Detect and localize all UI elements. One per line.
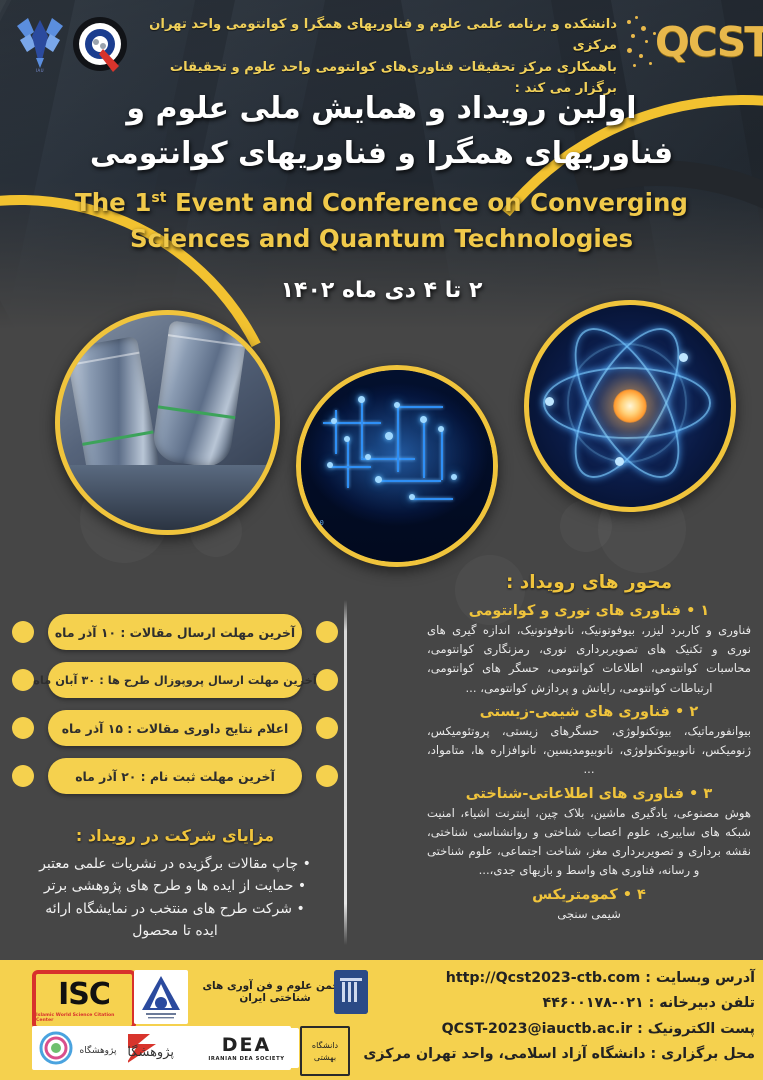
deadline-dot-left — [12, 717, 34, 739]
topic-label: فناوری های شیمی-زیستی — [480, 704, 670, 720]
topic-bullet: • — [675, 704, 684, 720]
top-right-logos: IAU — [10, 8, 132, 78]
deadline-dot-right — [316, 669, 338, 691]
deadline-dot-right — [316, 621, 338, 643]
benefit-item: • شرکت طرح های منتخب در نمایشگاه ارائه — [10, 898, 340, 920]
topic-bullet: • — [689, 786, 698, 802]
website-line: آدرس وبسایت : http://Qcst2023-ctb.com — [355, 966, 755, 991]
circuit-brain-image: 0110 0100 1001 1001 — [296, 365, 498, 567]
svg-text:بهشتی: بهشتی — [314, 1053, 336, 1062]
atom-image — [524, 300, 736, 512]
qcst-circular-logo — [72, 16, 128, 72]
deadline-dot-left — [12, 621, 34, 643]
colorful-circle-logo: پژوهشگاه — [32, 1026, 128, 1070]
topic-title: ۱ • فناوری های نوری و کوانتومی — [423, 603, 755, 619]
deadlines-section: آخرین مهلت ارسال مقالات : ۱۰ آذر ماه آخر… — [10, 612, 340, 804]
deadline-pill: آخرین مهلت ارسال پروپوزال طرح ها : ۳۰ آب… — [48, 662, 302, 698]
ordinal-suffix: st — [151, 190, 166, 206]
english-title-main: Event and Conference on Converging — [175, 188, 688, 217]
topics-section: محور های رویداد : ۱ • فناوری های نوری و … — [423, 572, 755, 930]
deadline-row: آخرین مهلت ثبت نام : ۲۰ آذر ماه — [10, 756, 340, 800]
email-value[interactable]: QCST-2023@iauctb.ac.ir — [442, 1021, 633, 1037]
benefit-item: • چاپ مقالات برگزیده در نشریات علمی معتب… — [10, 853, 340, 875]
isc-logo: ISC Islamic World Science Citation Cente… — [32, 970, 136, 1030]
dea-text: DEA — [222, 1034, 271, 1056]
deadline-text: آخرین مهلت ارسال مقالات : ۱۰ آذر ماه — [55, 625, 295, 640]
website-label: آدرس وبسایت : — [645, 970, 755, 986]
electron — [545, 397, 554, 406]
qcst-logo: QCST — [625, 10, 755, 76]
deadline-row: آخرین مهلت ارسال مقالات : ۱۰ آذر ماه — [10, 612, 340, 656]
phone-value: ۰۲۱-۴۴۶۰۰۱۷۸ — [543, 995, 644, 1011]
topic-title: ۲ • فناوری های شیمی-زیستی — [423, 704, 755, 720]
electron — [679, 353, 688, 362]
atom-nucleus — [613, 389, 647, 423]
event-date: ۲ تا ۴ دی ماه ۱۴۰۲ — [0, 278, 763, 303]
shahid-beheshti-logo: دانشگاه بهشتی — [300, 1026, 350, 1076]
topic-item: ۲ • فناوری های شیمی-زیستی بیوانفورماتیک،… — [423, 704, 755, 780]
dea-society-logo: DEA IRANIAN DEA SOCIETY — [194, 1028, 299, 1068]
topic-item: ۴ • کمومتریکس شیمی سنجی — [423, 887, 755, 924]
sponsor-logos: ISC Islamic World Science Citation Cente… — [4, 964, 360, 1076]
deadline-dot-right — [316, 717, 338, 739]
deadline-row: اعلام نتایج داوری مقالات : ۱۵ آذر ماه — [10, 708, 340, 752]
phone-line: تلفن دبیرخانه : ۰۲۱-۴۴۶۰۰۱۷۸ — [355, 991, 755, 1016]
dea-caption: IRANIAN DEA SOCIETY — [208, 1056, 284, 1062]
cognitive-society-mark — [134, 970, 188, 1024]
topic-body: شیمی سنجی — [423, 905, 755, 924]
venue-line: محل برگزاری : دانشگاه آزاد اسلامی، واحد … — [355, 1042, 755, 1067]
iau-square-logo — [334, 970, 368, 1014]
microscope-image — [55, 310, 280, 535]
english-title-ordinal: The 1 — [75, 188, 151, 217]
svg-text:دانشگاه: دانشگاه — [312, 1040, 339, 1050]
topics-heading: محور های رویداد : — [423, 572, 755, 593]
topic-title: ۳ • فناوری های اطلاعاتی-شناختی — [423, 786, 755, 802]
deadline-text: آخرین مهلت ارسال پروپوزال طرح ها : ۳۰ آب… — [33, 673, 317, 687]
english-title: The 1st Event and Conference on Convergi… — [0, 185, 763, 256]
deadline-text: اعلام نتایج داوری مقالات : ۱۵ آذر ماه — [62, 721, 289, 736]
topic-number: ۳ — [703, 786, 712, 802]
email-line: پست الکترونیک : QCST-2023@iauctb.ac.ir — [355, 1017, 755, 1042]
electron — [615, 457, 624, 466]
english-title-line-2: Sciences and Quantum Technologies — [0, 221, 763, 257]
deadline-dot-left — [12, 765, 34, 787]
azad-university-logo — [12, 12, 68, 74]
topic-label: کمومتریکس — [532, 887, 618, 903]
qcst-wordmark: QCST — [655, 18, 763, 66]
deadline-dot-left — [12, 669, 34, 691]
poster-footer: آدرس وبسایت : http://Qcst2023-ctb.com تل… — [0, 960, 763, 1080]
topic-number: ۱ — [700, 603, 709, 619]
topic-number: ۴ — [637, 887, 646, 903]
phone-label: تلفن دبیرخانه : — [649, 995, 755, 1011]
deadline-pill: آخرین مهلت ارسال مقالات : ۱۰ آذر ماه — [48, 614, 302, 650]
topic-body: هوش مصنوعی، یادگیری ماشین، بلاک چین، این… — [423, 804, 755, 881]
english-title-line-1: The 1st Event and Conference on Convergi… — [0, 185, 763, 221]
email-label: پست الکترونیک : — [637, 1021, 755, 1037]
persian-title-line-2: فناوریهای همگرا و فناوریهای کوانتومی — [0, 131, 763, 176]
venue-value: دانشگاه آزاد اسلامی، واحد تهران مرکزی — [363, 1046, 645, 1062]
contact-info: آدرس وبسایت : http://Qcst2023-ctb.com تل… — [355, 966, 755, 1067]
svg-text:پژوهشگاه: پژوهشگاه — [79, 1044, 117, 1056]
isc-caption: Islamic World Science Citation Center — [36, 1013, 132, 1023]
topic-bullet: • — [686, 603, 695, 619]
website-value[interactable]: http://Qcst2023-ctb.com — [446, 970, 641, 986]
topic-bullet: • — [623, 887, 632, 903]
conference-poster: QCST دانشکده و برنامه علمی علوم و فناوری… — [0, 0, 763, 1080]
benefit-item: ایده تا محصول — [10, 920, 340, 942]
benefit-item: • حمایت از ایده ها و طرح های پژوهشی برتر — [10, 875, 340, 897]
topic-label: فناوری های نوری و کوانتومی — [469, 603, 681, 619]
topic-title: ۴ • کمومتریکس — [423, 887, 755, 903]
venue-label: محل برگزاری : — [651, 1046, 756, 1062]
topic-number: ۲ — [689, 704, 698, 720]
azad-logo-caption: IAU — [14, 68, 66, 73]
poster-header: QCST دانشکده و برنامه علمی علوم و فناوری… — [0, 0, 763, 86]
topic-item: ۱ • فناوری های نوری و کوانتومی فناوری و … — [423, 603, 755, 698]
benefits-heading: مزایای شرکت در رویداد : — [10, 826, 340, 845]
topic-body: فناوری و کاربرد لیزر، بیوفوتونیک، نانوفو… — [423, 621, 755, 698]
deadline-pill: آخرین مهلت ثبت نام : ۲۰ آذر ماه — [48, 758, 302, 794]
deadline-dot-right — [316, 765, 338, 787]
deadline-text: آخرین مهلت ثبت نام : ۲۰ آذر ماه — [75, 769, 275, 784]
topic-body: بیوانفورماتیک، بیوتکنولوژی، حسگرهای زیست… — [423, 722, 755, 780]
binary-digits: 0110 0100 1001 1001 — [307, 519, 324, 554]
cognitive-society-name: انجمن علوم و فن آوری های شناختی ایران — [200, 980, 350, 1004]
column-divider — [344, 600, 347, 945]
isc-text: ISC — [58, 977, 110, 1012]
organizer-line-1: دانشکده و برنامه علمی علوم و فناوریهای ه… — [125, 14, 617, 57]
topic-item: ۳ • فناوری های اطلاعاتی-شناختی هوش مصنوع… — [423, 786, 755, 881]
persian-title: اولین رویداد و همایش ملی علوم و فناوریها… — [0, 86, 763, 176]
persian-title-line-1: اولین رویداد و همایش ملی علوم و — [0, 86, 763, 131]
deadline-pill: اعلام نتایج داوری مقالات : ۱۵ آذر ماه — [48, 710, 302, 746]
topic-label: فناوری های اطلاعاتی-شناختی — [466, 786, 684, 802]
benefits-section: مزایای شرکت در رویداد : • چاپ مقالات برگ… — [10, 826, 340, 943]
deadline-row: آخرین مهلت ارسال پروپوزال طرح ها : ۳۰ آب… — [10, 660, 340, 704]
